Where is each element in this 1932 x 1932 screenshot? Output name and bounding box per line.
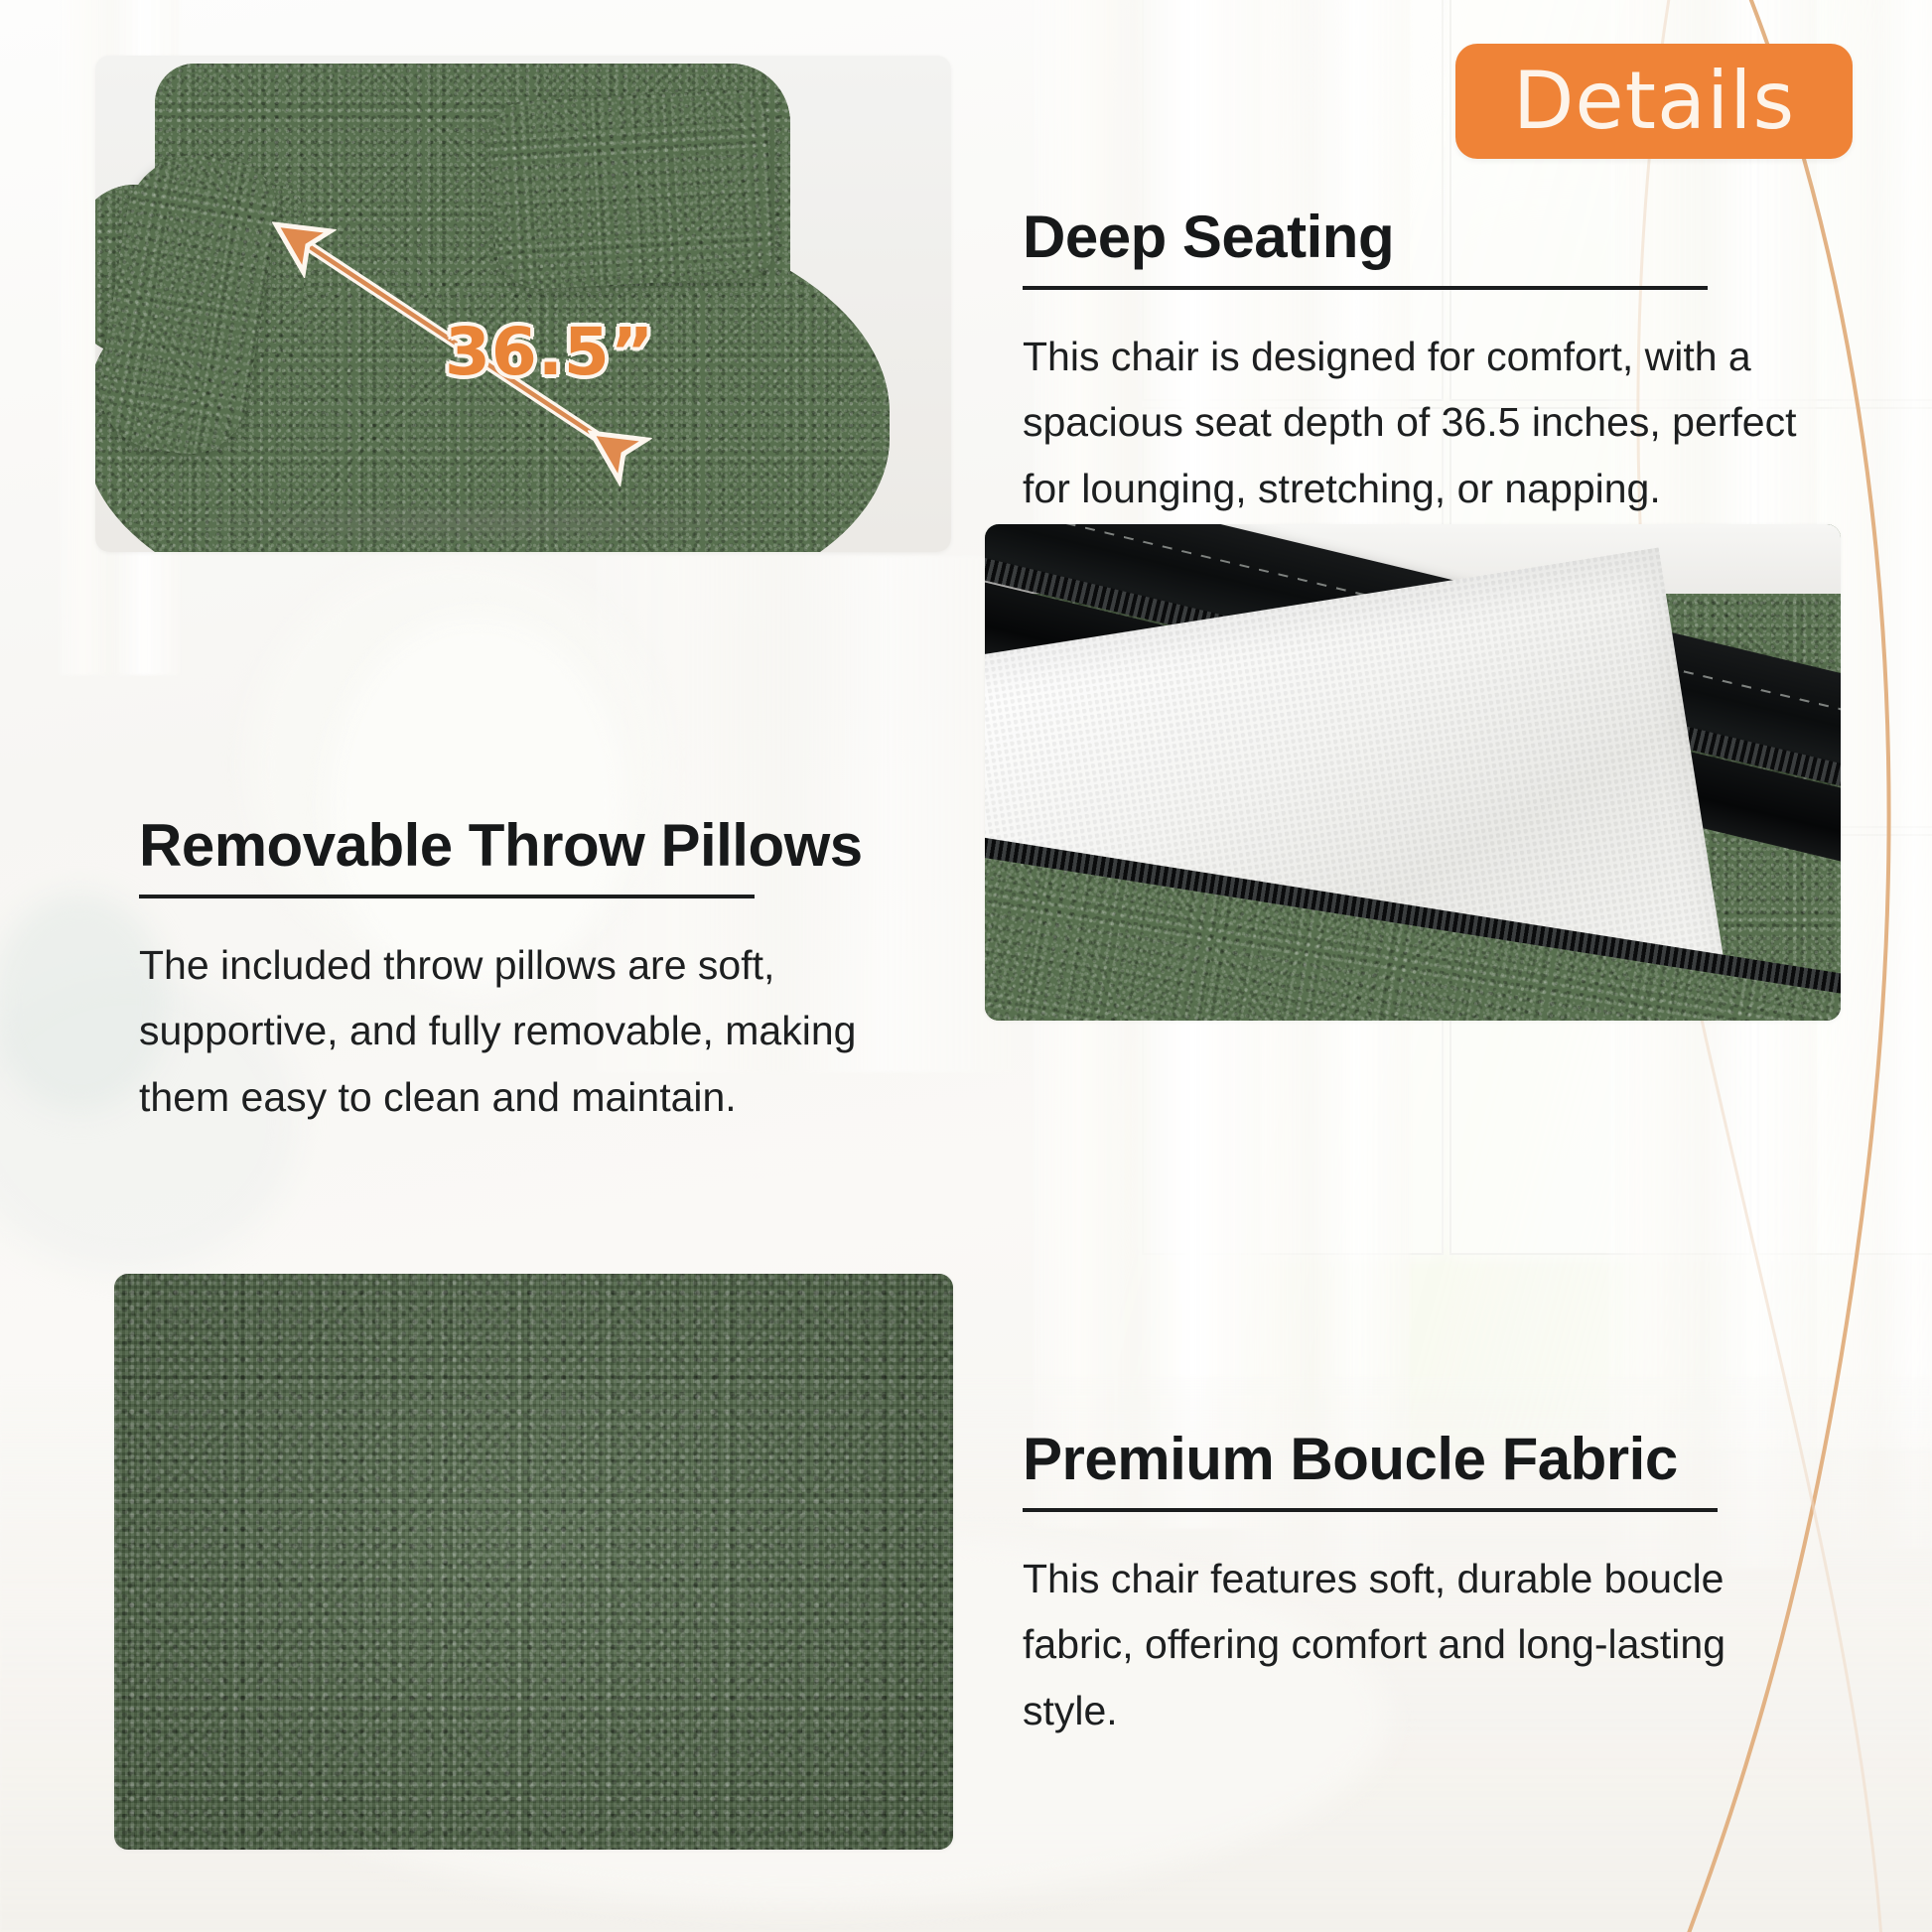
feature-title-underline [1023, 286, 1708, 290]
feature-block-removable-throw-pillows: Removable Throw Pillows The included thr… [139, 814, 903, 1130]
feature-block-deep-seating: Deep Seating This chair is designed for … [1023, 206, 1817, 521]
boucle-fabric-swatch-photo [114, 1274, 953, 1850]
feature-title-premium-boucle-fabric: Premium Boucle Fabric [1023, 1428, 1807, 1492]
removable-cover-zipper-photo [985, 524, 1841, 1021]
deep-seating-photo: 36.5” [95, 56, 951, 552]
details-badge-label: Details [1513, 62, 1795, 141]
photo-vignette [114, 1274, 953, 1850]
feature-body-deep-seating: This chair is designed for comfort, with… [1023, 324, 1817, 521]
feature-title-deep-seating: Deep Seating [1023, 206, 1817, 270]
feature-title-underline [1023, 1508, 1718, 1512]
feature-body-premium-boucle-fabric: This chair features soft, durable boucle… [1023, 1546, 1807, 1743]
feature-block-premium-boucle-fabric: Premium Boucle Fabric This chair feature… [1023, 1428, 1807, 1743]
seat-depth-arrow-icon [95, 56, 951, 552]
details-page: Details [0, 0, 1932, 1932]
feature-title-underline [139, 895, 755, 898]
feature-title-removable-throw-pillows: Removable Throw Pillows [139, 814, 903, 879]
details-badge: Details [1455, 44, 1853, 159]
feature-body-removable-throw-pillows: The included throw pillows are soft, sup… [139, 932, 903, 1130]
